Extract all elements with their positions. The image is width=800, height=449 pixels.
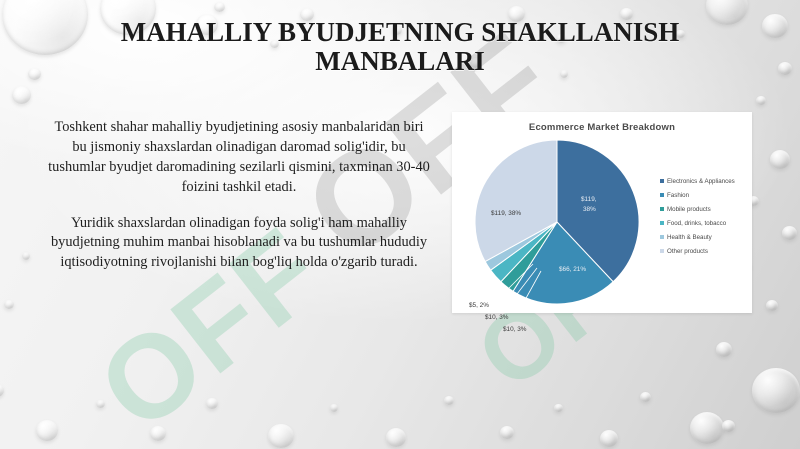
water-droplet bbox=[4, 300, 14, 309]
water-droplet bbox=[600, 430, 618, 447]
water-droplet bbox=[762, 14, 788, 38]
water-droplet bbox=[782, 226, 797, 240]
paragraph-1: Toshkent shahar mahalliy byudjetining as… bbox=[48, 118, 430, 198]
legend-label: Health & Beauty bbox=[667, 234, 712, 241]
legend-item: Mobile products bbox=[660, 202, 752, 216]
pie-svg bbox=[473, 138, 641, 306]
legend-label: Fashion bbox=[667, 192, 689, 199]
water-droplet bbox=[716, 342, 732, 357]
legend-item: Food, drinks, tobacco bbox=[660, 216, 752, 230]
legend-swatch bbox=[660, 249, 664, 253]
water-droplet bbox=[386, 428, 406, 447]
chart-legend: Electronics & AppliancesFashionMobile pr… bbox=[660, 174, 752, 258]
water-droplet bbox=[770, 150, 790, 169]
chart-title: Ecommerce Market Breakdown bbox=[452, 122, 752, 133]
legend-item: Other products bbox=[660, 244, 752, 258]
legend-item: Fashion bbox=[660, 188, 752, 202]
legend-label: Electronics & Appliances bbox=[667, 178, 735, 185]
water-droplet bbox=[554, 404, 563, 412]
water-droplet bbox=[330, 404, 338, 412]
water-droplet bbox=[206, 398, 218, 409]
pie-data-label: $5, 2% bbox=[469, 302, 489, 309]
water-droplet bbox=[500, 426, 514, 439]
pie-data-label: $10, 3% bbox=[485, 314, 508, 321]
water-droplet bbox=[752, 368, 800, 413]
water-droplet bbox=[0, 384, 4, 397]
legend-swatch bbox=[660, 207, 664, 211]
water-droplet bbox=[444, 396, 454, 405]
legend-swatch bbox=[660, 235, 664, 239]
pie-data-label: $10, 3% bbox=[503, 326, 526, 333]
water-droplet bbox=[690, 412, 724, 444]
water-droplet bbox=[12, 86, 31, 104]
legend-item: Health & Beauty bbox=[660, 230, 752, 244]
pie-inner-label: 38% bbox=[583, 206, 596, 213]
water-droplet bbox=[36, 420, 58, 441]
slide-title: MAHALLIY BYUDJETNING SHAKLLANISH MANBALA… bbox=[60, 18, 740, 75]
slide-canvas: OFF OFF OFF MAHALLIY BYUDJETNING SHAKLLA… bbox=[0, 0, 800, 449]
water-droplet bbox=[150, 426, 166, 441]
pie-data-label: $119, 38% bbox=[491, 210, 521, 217]
pie-chart: $119, 38%$5, 2%$10, 3%$10, 3% $119,38%$6… bbox=[473, 138, 641, 306]
water-droplet bbox=[214, 2, 225, 12]
legend-label: Mobile products bbox=[667, 206, 711, 213]
pie-inner-label: $66, 21% bbox=[559, 266, 586, 273]
water-droplet bbox=[766, 300, 778, 311]
water-droplet bbox=[22, 252, 30, 260]
water-droplet bbox=[28, 68, 41, 80]
legend-label: Other products bbox=[667, 248, 708, 255]
chart-card: Ecommerce Market Breakdown $119, 38%$5, … bbox=[452, 112, 752, 313]
legend-swatch bbox=[660, 221, 664, 225]
water-droplet bbox=[778, 62, 792, 75]
water-droplet bbox=[640, 392, 651, 402]
legend-label: Food, drinks, tobacco bbox=[667, 220, 726, 227]
pie-inner-label: $119, bbox=[581, 196, 597, 203]
legend-swatch bbox=[660, 179, 664, 183]
water-droplet bbox=[722, 420, 735, 432]
legend-item: Electronics & Appliances bbox=[660, 174, 752, 188]
body-text-column: Toshkent shahar mahalliy byudjetining as… bbox=[48, 118, 430, 273]
water-droplet bbox=[96, 400, 105, 408]
water-droplet bbox=[268, 424, 294, 448]
paragraph-2: Yuridik shaxslardan olinadigan foyda sol… bbox=[48, 214, 430, 274]
water-droplet bbox=[756, 96, 766, 105]
legend-swatch bbox=[660, 193, 664, 197]
